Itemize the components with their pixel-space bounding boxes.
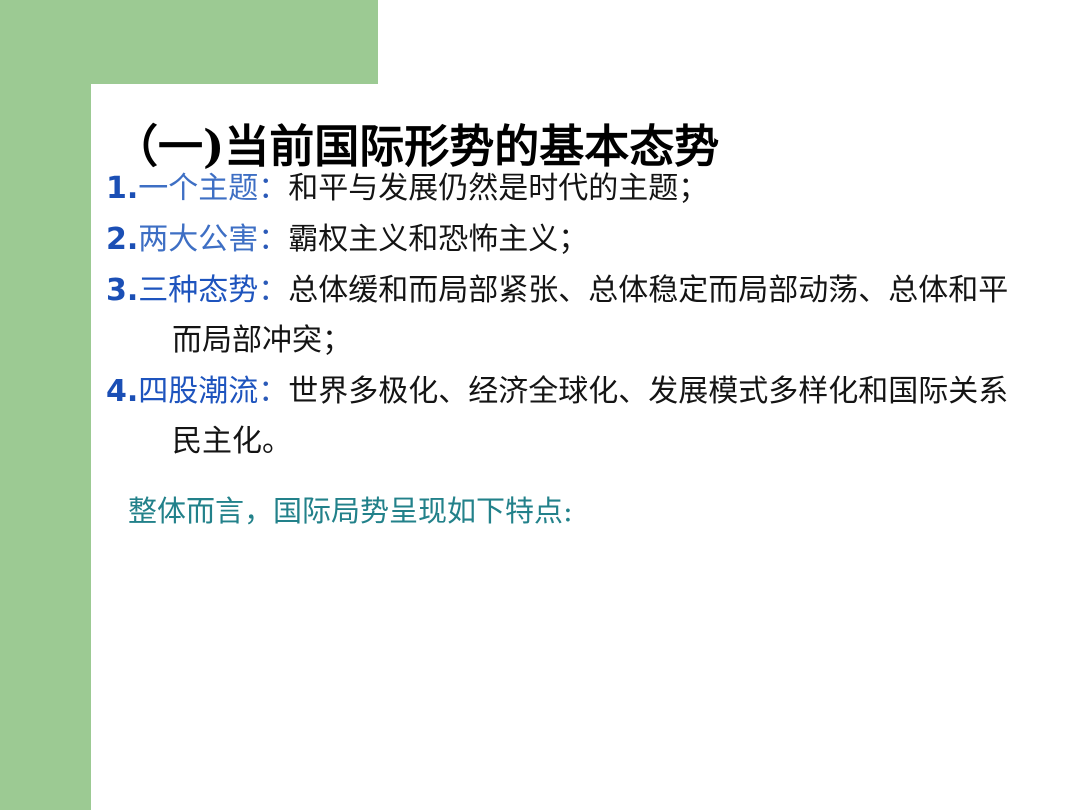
list-item-separator: ： [258,222,288,257]
list-item-body: 和平与发展仍然是时代的主题； [288,171,708,206]
list-item-separator: ： [258,171,288,206]
list-item-number: 4. [106,374,138,409]
slide-content: （一)当前国际形势的基本态势 1.一个主题：和平与发展仍然是时代的主题； 2.两… [0,0,1080,810]
list-item-label: 一个主题 [138,171,258,206]
list-item: 2.两大公害：霸权主义和恐怖主义； [106,215,1036,265]
list-item-label: 四股潮流 [138,374,258,409]
list-item: 1.一个主题：和平与发展仍然是时代的主题； [106,164,1036,214]
list-item-body: 总体缓和而局部紧张、总体稳定而局部动荡、总体和平而局部冲突； [172,273,1008,358]
list-item-label: 三种态势 [138,273,258,308]
bullet-list: 1.一个主题：和平与发展仍然是时代的主题； 2.两大公害：霸权主义和恐怖主义； … [106,164,1036,468]
list-item-separator: ： [258,273,288,308]
list-item-number: 2. [106,222,138,257]
list-item-separator: ： [258,374,288,409]
list-item: 3.三种态势：总体缓和而局部紧张、总体稳定而局部动荡、总体和平而局部冲突； [106,266,1036,366]
list-item-number: 3. [106,273,138,308]
list-item-label: 两大公害 [138,222,258,257]
list-item-body: 世界多极化、经济全球化、发展模式多样化和国际关系民主化。 [172,374,1008,459]
list-item: 4.四股潮流：世界多极化、经济全球化、发展模式多样化和国际关系民主化。 [106,367,1036,467]
presentation-slide: （一)当前国际形势的基本态势 1.一个主题：和平与发展仍然是时代的主题； 2.两… [0,0,1080,810]
list-item-body: 霸权主义和恐怖主义； [288,222,588,257]
list-item-number: 1. [106,171,138,206]
closing-note: 整体而言，国际局势呈现如下特点: [128,489,573,533]
